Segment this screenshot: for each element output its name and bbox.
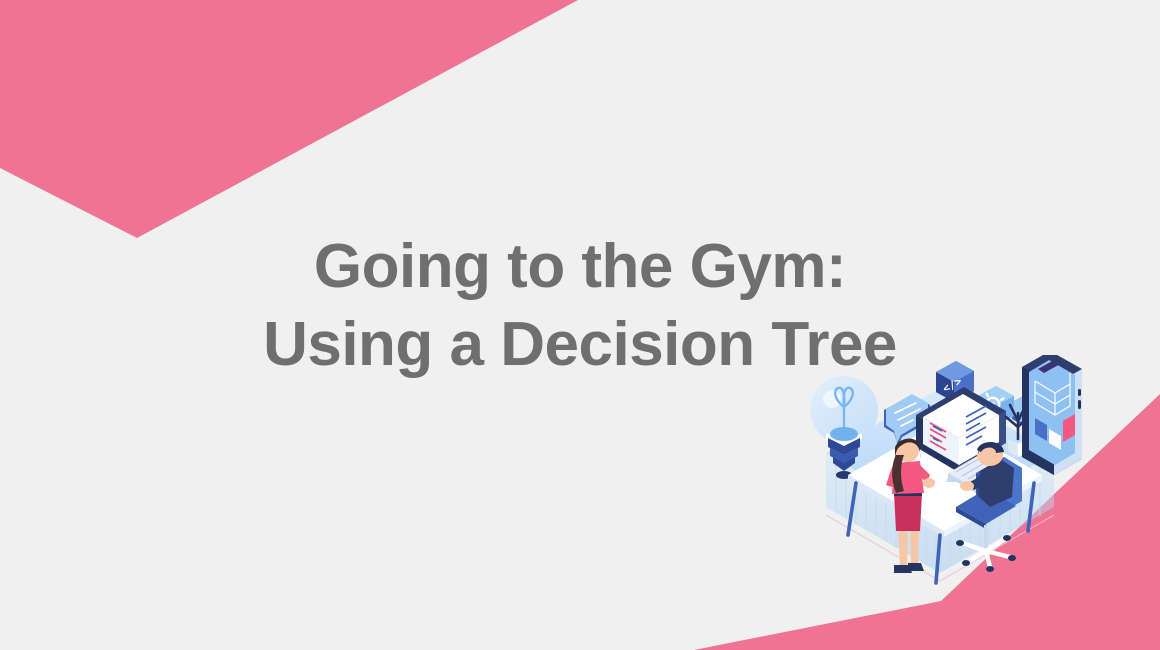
tablet: [1022, 355, 1082, 475]
slide-canvas: Going to the Gym: Using a Decision Tree: [0, 0, 1160, 650]
title-line-1: Going to the Gym:: [0, 228, 1160, 306]
isometric-office-workspace: </> { }: [790, 355, 1090, 630]
pink-chevron-top-left: [0, 0, 578, 238]
